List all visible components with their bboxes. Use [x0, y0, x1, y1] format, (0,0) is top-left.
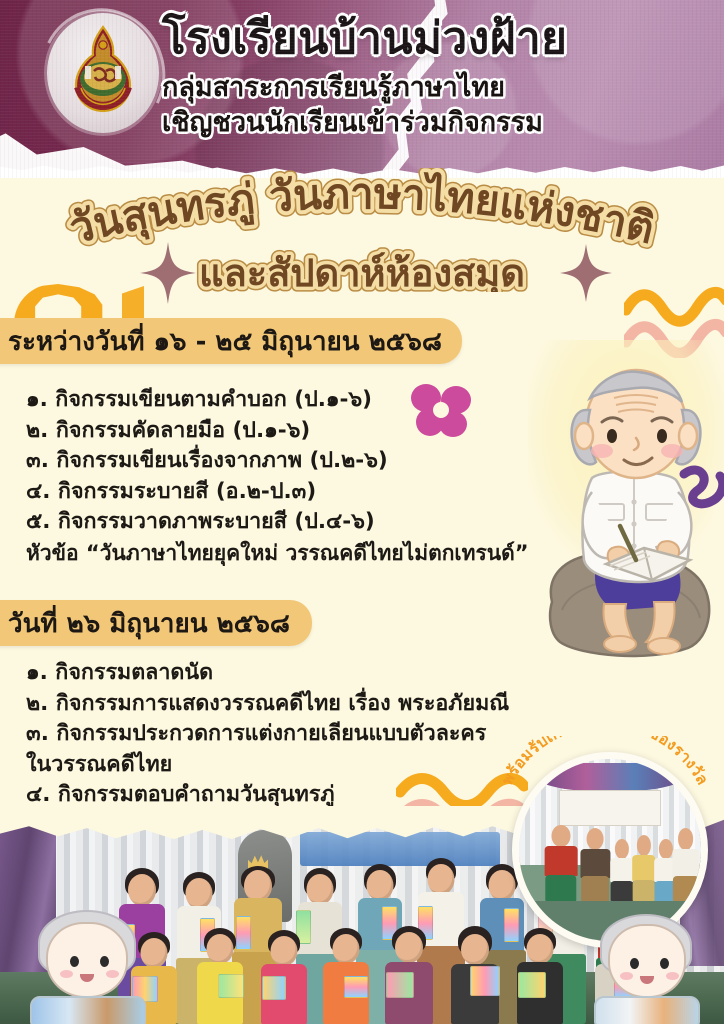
- date-banner-2: วันที่ ๒๖ มิถุนายน ๒๕๖๘: [0, 600, 312, 646]
- list-item: ๕. กิจกรรมวาดภาพระบายสี (ป.๔-๖): [26, 507, 586, 538]
- list-item: ๓. กิจกรรมเขียนเรื่องจากภาพ (ป.๒-๖): [26, 446, 586, 477]
- main-title-svg: วันสุนทรภู่ วันภาษาไทยแห่งชาติ วันสุนทรภ…: [0, 168, 724, 292]
- cartoon-cutout-left: [22, 904, 152, 1024]
- header-subtitle-line2: เชิญชวนนักเรียนเข้าร่วมกิจกรรม: [162, 107, 714, 140]
- list-item: ๑. กิจกรรมตลาดนัด: [26, 658, 546, 689]
- header-subtitle-line1: กลุ่มสาระการเรียนรู้ภาษาไทย: [162, 72, 714, 105]
- sparkle-star-right: [560, 244, 612, 302]
- student-figure: [192, 928, 248, 1024]
- list-item: ๔. กิจกรรมระบายสี (อ.๒-ป.๓): [26, 477, 586, 508]
- main-title-block: วันสุนทรภู่ วันภาษาไทยแห่งชาติ วันสุนทรภ…: [0, 168, 724, 292]
- header-subtitle: กลุ่มสาระการเรียนรู้ภาษาไทย เชิญชวนนักเร…: [162, 72, 714, 140]
- activity-list-1: ๑. กิจกรรมเขียนตามคำบอก (ป.๑-๖) ๒. กิจกร…: [26, 385, 586, 568]
- curved-note: พร้อมรับเกียรติบัตรและของรางวัล: [486, 736, 724, 866]
- main-title-line1: วันสุนทรภู่ วันภาษาไทยแห่งชาติ: [65, 169, 659, 253]
- student-figure: [318, 928, 374, 1024]
- sunthorn-phu-illustration: [540, 352, 724, 664]
- ministry-of-education-emblem-icon: [64, 25, 142, 117]
- flower-decoration-icon: [408, 378, 474, 440]
- date-banner-1-label: ระหว่างวันที่ ๑๖ - ๒๕ มิถุนายน ๒๕๖๘: [8, 321, 442, 362]
- date-banner-1: ระหว่างวันที่ ๑๖ - ๒๕ มิถุนายน ๒๕๖๘: [0, 318, 462, 364]
- student-figure: [380, 926, 438, 1024]
- school-name: โรงเรียนบ้านม่วงฝ้าย: [162, 16, 714, 62]
- sparkle-star-left: [140, 242, 196, 304]
- main-title-line2: และสัปดาห์ห้องสมุด: [199, 251, 525, 292]
- student-figure: [446, 926, 504, 1024]
- student-figure: [256, 930, 312, 1024]
- school-logo: [47, 13, 159, 133]
- list-item: ๑. กิจกรรมเขียนตามคำบอก (ป.๑-๖): [26, 385, 586, 416]
- curved-note-text: พร้อมรับเกียรติบัตรและของรางวัล: [498, 736, 712, 788]
- svg-text:วันสุนทรภู่ วันภาษาไทยแห่งชาติ: วันสุนทรภู่ วันภาษาไทยแห่งชาติ: [65, 169, 659, 253]
- list-item: ๒. กิจกรรมคัดลายมือ (ป.๑-๖): [26, 416, 586, 447]
- poster-header: โรงเรียนบ้านม่วงฝ้าย กลุ่มสาระการเรียนรู…: [0, 0, 724, 178]
- date-banner-2-label: วันที่ ๒๖ มิถุนายน ๒๕๖๘: [8, 603, 290, 644]
- activity-topic: หัวข้อ “วันภาษาไทยยุคใหม่ วรรณคดีไทยไม่ต…: [26, 539, 586, 569]
- poster-canvas: โรงเรียนบ้านม่วงฝ้าย กลุ่มสาระการเรียนรู…: [0, 0, 724, 1024]
- list-item: ๒. กิจกรรมการแสดงวรรณคดีไทย เรื่อง พระอภ…: [26, 689, 546, 720]
- student-figure: [512, 928, 568, 1024]
- list-item: ในวรรณคดีไทย: [26, 750, 546, 781]
- list-item: ๓. กิจกรรมประกวดการแต่งกายเลียนแบบตัวละค…: [26, 719, 546, 750]
- svg-text:พร้อมรับเกียรติบัตรและของรางวั: พร้อมรับเกียรติบัตรและของรางวัล: [498, 736, 712, 788]
- cartoon-cutout-right: [588, 908, 706, 1024]
- activity-list-2: ๑. กิจกรรมตลาดนัด ๒. กิจกรรมการแสดงวรรณค…: [26, 658, 546, 811]
